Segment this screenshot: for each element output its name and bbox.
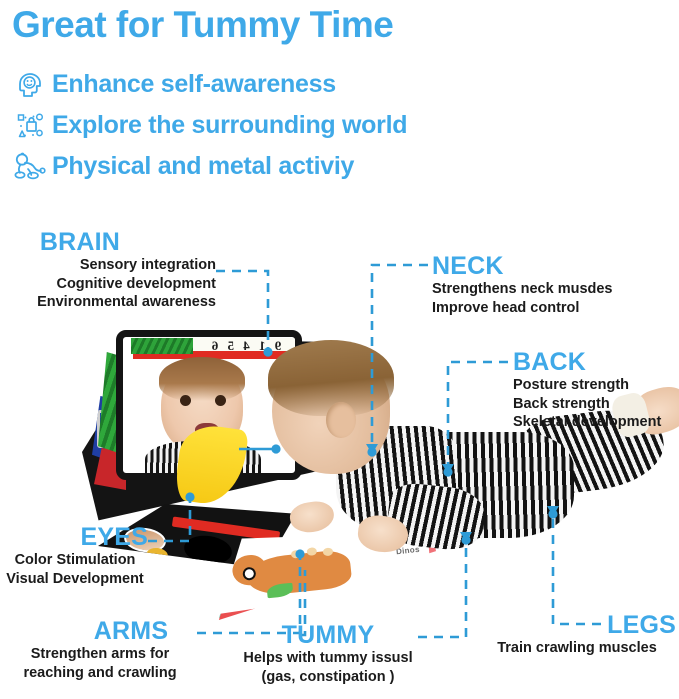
callout-neck-line-0: Strengthens neck musdes xyxy=(432,280,613,299)
benefit-bullet-1: Explore the surrounding world xyxy=(8,104,407,145)
baby-hand-secondary xyxy=(288,499,336,535)
tray-black-disc xyxy=(182,533,233,567)
benefit-bullet-list: Enhance self-awareness Explore xyxy=(8,63,407,186)
callout-back-line-2: Skeletal development xyxy=(513,413,661,432)
head-smiley-icon xyxy=(8,68,52,100)
callout-neck-title: NECK xyxy=(432,252,613,280)
baby-hair xyxy=(268,340,394,416)
callout-brain: BRAIN Sensory integration Cognitive deve… xyxy=(0,228,216,312)
benefit-bullet-label: Explore the surrounding world xyxy=(52,110,407,140)
callout-brain-line-0: Sensory integration xyxy=(0,256,216,275)
callout-brain-line-2: Environmental awareness xyxy=(0,293,216,312)
callout-legs-line-0: Train crawling muscles xyxy=(478,639,676,658)
callout-back-title: BACK xyxy=(513,348,661,376)
infographic-root: Great for Tummy Time Enhance self-awaren… xyxy=(0,0,679,699)
mirrored-baby-hair xyxy=(159,357,245,401)
callout-back-line-1: Back strength xyxy=(513,395,661,414)
mirrored-baby-eye-left xyxy=(180,395,191,406)
callout-neck: NECK Strengthens neck musdes Improve hea… xyxy=(432,252,613,317)
benefit-bullet-label: Physical and metal activiy xyxy=(52,151,354,181)
callout-eyes-title: EYES xyxy=(0,523,150,551)
crawling-baby-icon xyxy=(8,150,52,182)
mirror-green-trim xyxy=(131,338,197,354)
callout-arms: ARMS Strengthen arms for reaching and cr… xyxy=(0,617,200,682)
callout-tummy-line-1: (gas, constipation ) xyxy=(218,668,438,687)
benefit-bullet-0: Enhance self-awareness xyxy=(8,63,407,104)
callout-eyes-line-1: Visual Development xyxy=(0,570,150,589)
callout-back: BACK Posture strength Back strength Skel… xyxy=(513,348,661,432)
callout-arms-line-1: reaching and crawling xyxy=(0,664,200,683)
page-title: Great for Tummy Time xyxy=(12,2,393,48)
callout-tummy-title: TUMMY xyxy=(218,621,438,649)
callout-brain-line-1: Cognitive development xyxy=(0,275,216,294)
callout-arms-title: ARMS xyxy=(0,617,200,645)
callout-back-line-0: Posture strength xyxy=(513,376,661,395)
callout-arms-line-0: Strengthen arms for xyxy=(0,645,200,664)
benefit-bullet-2: Physical and metal activiy xyxy=(8,145,407,186)
callout-eyes-line-0: Color Stimulation xyxy=(0,551,150,570)
benefit-bullet-label: Enhance self-awareness xyxy=(52,69,336,99)
callout-tummy: TUMMY Helps with tummy issusl (gas, cons… xyxy=(218,621,438,686)
callout-legs-title: LEGS xyxy=(478,611,676,639)
callout-tummy-line-0: Helps with tummy issusl xyxy=(218,649,438,668)
callout-legs: LEGS Train crawling muscles xyxy=(478,611,676,658)
callout-eyes: EYES Color Stimulation Visual Developmen… xyxy=(0,523,150,588)
callout-neck-line-1: Improve head control xyxy=(432,299,613,318)
baby-ear xyxy=(326,402,356,438)
mirrored-baby-eye-right xyxy=(215,395,226,406)
callout-brain-title: BRAIN xyxy=(0,228,216,256)
explore-shapes-icon xyxy=(8,109,52,141)
